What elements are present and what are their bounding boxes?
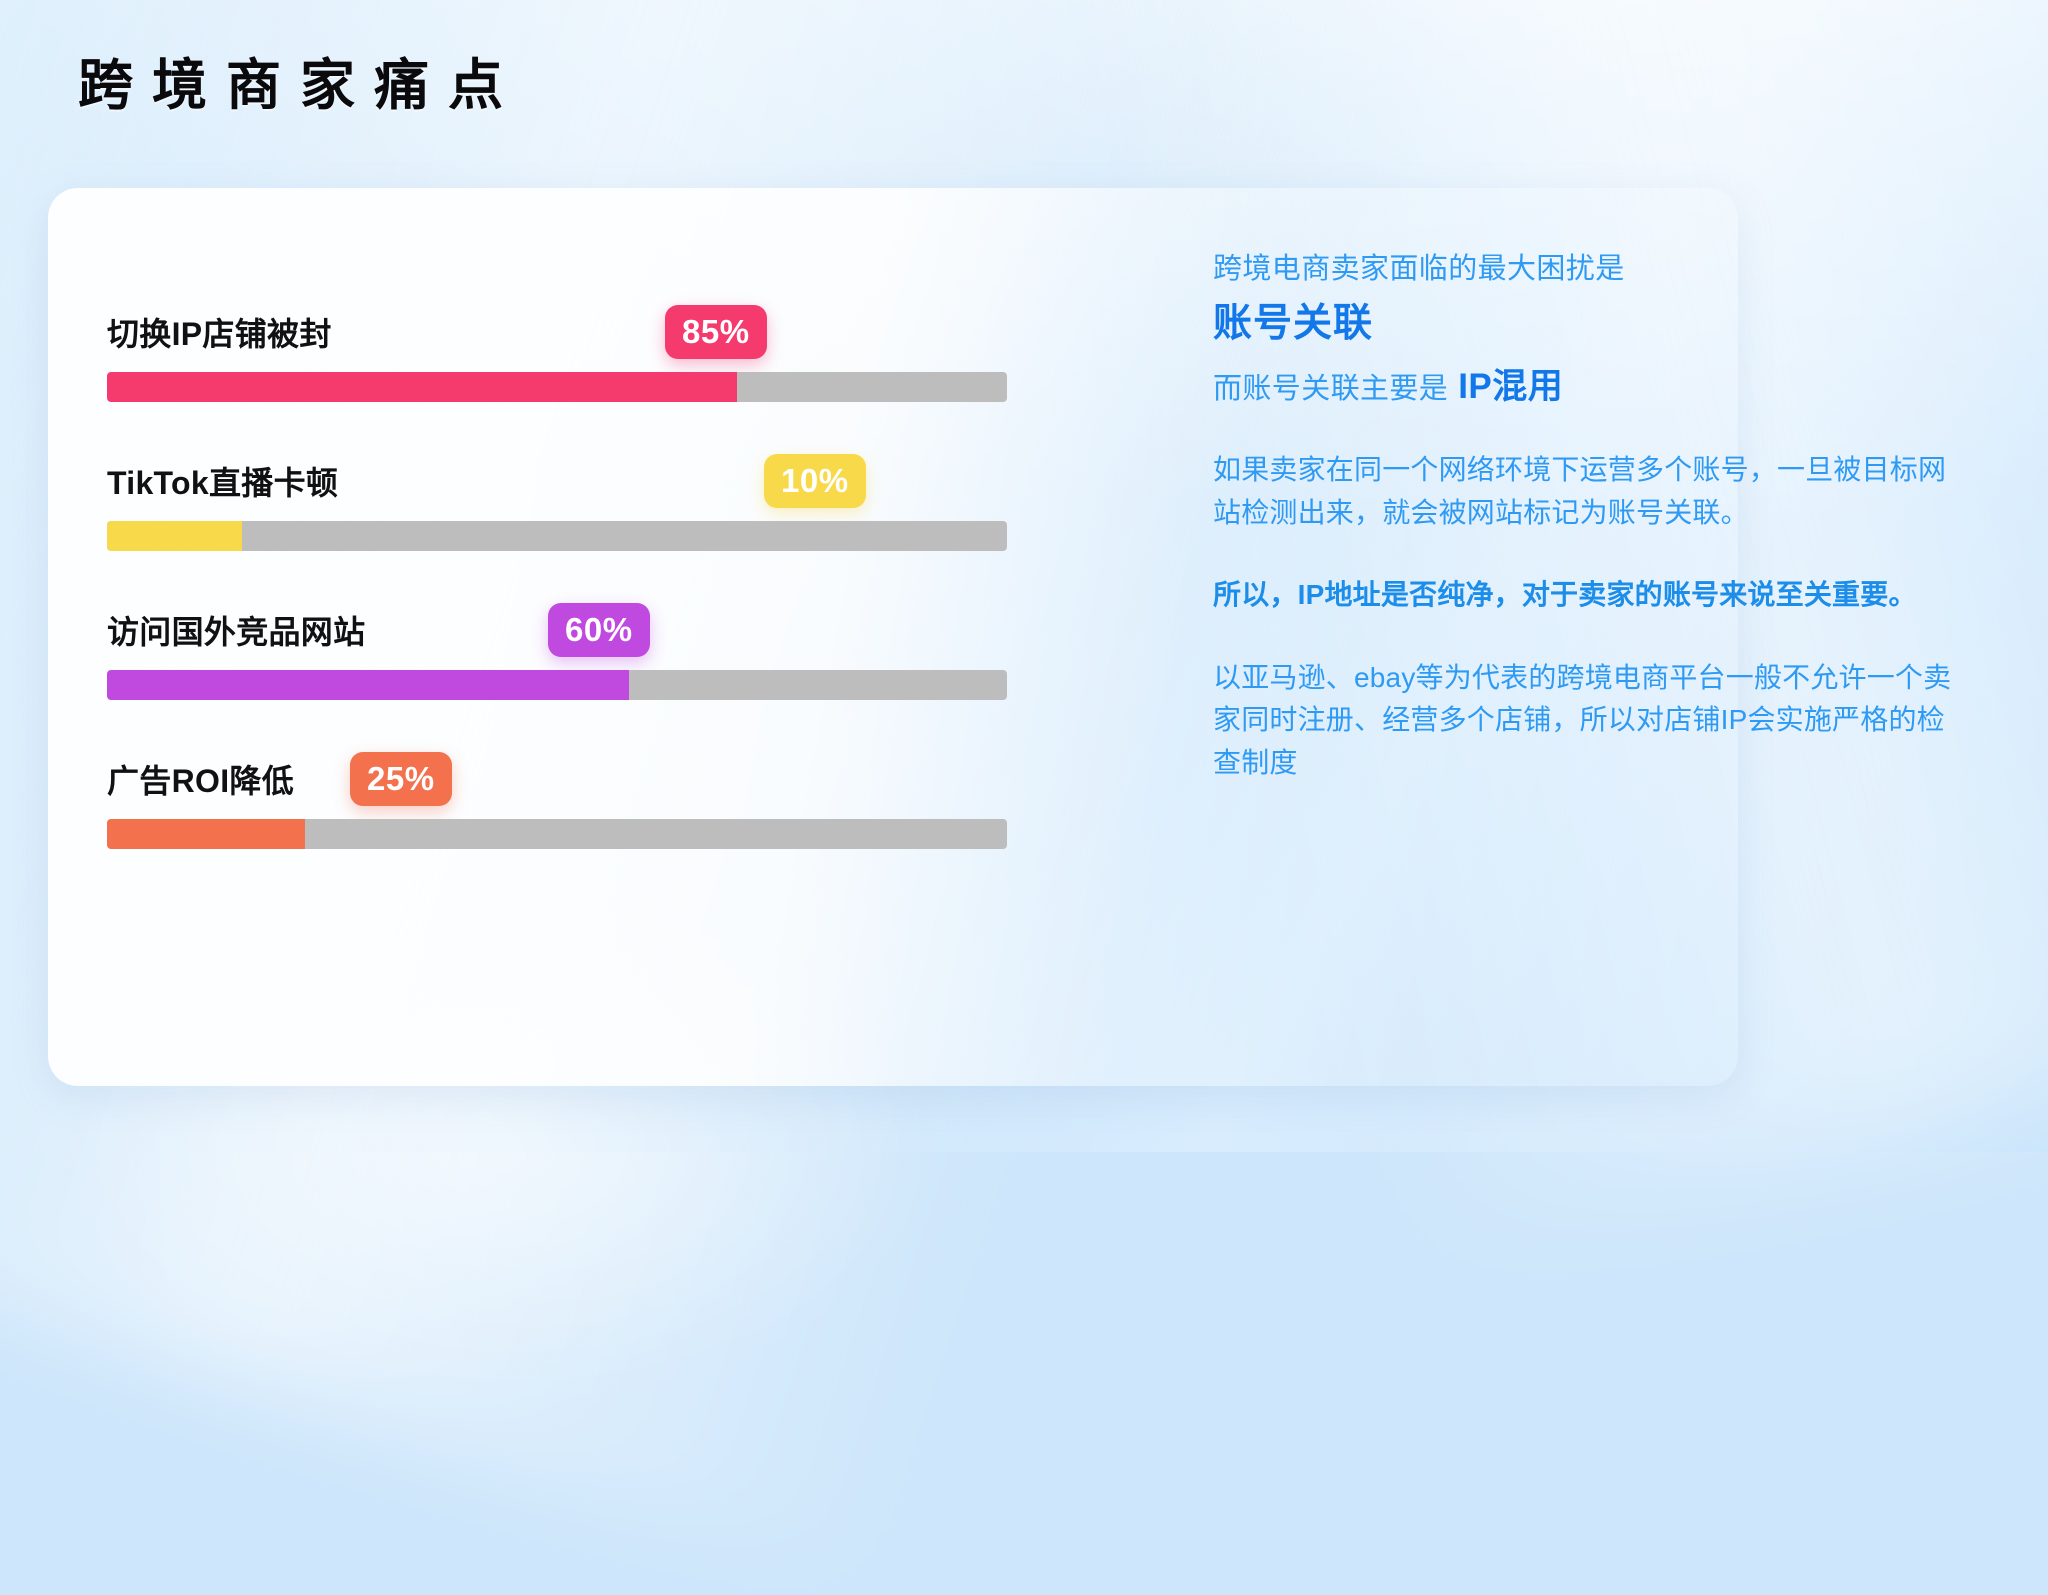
bar-label: 切换IP店铺被封 xyxy=(107,309,332,355)
bar-header: 访问国外竞品网站60% xyxy=(107,598,1007,662)
bar-header: TikTok直播卡顿10% xyxy=(107,449,1007,513)
bar-fill xyxy=(107,372,737,402)
bar-fill xyxy=(107,670,629,700)
bar-header: 广告ROI降低25% xyxy=(107,747,1007,811)
bar-label: TikTok直播卡顿 xyxy=(107,458,338,504)
bar-row: TikTok直播卡顿10% xyxy=(107,449,1007,551)
explanation-text-panel: 跨境电商卖家面临的最大困扰是 账号关联 而账号关联主要是IP混用 如果卖家在同一… xyxy=(1213,250,1973,784)
page-title: 跨境商家痛点 xyxy=(78,58,522,113)
hero-text: 账号关联 xyxy=(1213,301,1973,348)
paragraph-2: 所以，IP地址是否纯净，对于卖家的账号来说至关重要。 xyxy=(1213,574,1973,617)
subtitle-prefix: 而账号关联主要是 xyxy=(1213,373,1448,405)
subtitle-highlight: IP混用 xyxy=(1458,367,1563,406)
paragraph-1: 如果卖家在同一个网络环境下运营多个账号，一旦被目标网站检测出来，就会被网站标记为… xyxy=(1213,449,1973,534)
bar-row: 切换IP店铺被封85% xyxy=(107,300,1007,402)
lead-text: 跨境电商卖家面临的最大困扰是 xyxy=(1213,250,1973,289)
subtitle-row: 而账号关联主要是IP混用 xyxy=(1213,364,1973,410)
bar-label: 广告ROI降低 xyxy=(107,756,294,802)
bar-value-badge: 85% xyxy=(665,305,767,359)
bar-value-badge: 25% xyxy=(350,752,452,806)
bar-label: 访问国外竞品网站 xyxy=(107,607,365,653)
bar-track xyxy=(107,670,1007,700)
bar-track xyxy=(107,819,1007,849)
bar-row: 广告ROI降低25% xyxy=(107,747,1007,849)
bar-track xyxy=(107,372,1007,402)
bar-value-badge: 60% xyxy=(548,603,650,657)
pain-point-bar-chart: 切换IP店铺被封85%TikTok直播卡顿10%访问国外竞品网站60%广告ROI… xyxy=(107,300,1007,849)
bar-track xyxy=(107,521,1007,551)
paragraph-3: 以亚马逊、ebay等为代表的跨境电商平台一般不允许一个卖家同时注册、经营多个店铺… xyxy=(1213,657,1973,785)
bar-row: 访问国外竞品网站60% xyxy=(107,598,1007,700)
bar-fill xyxy=(107,521,242,551)
bar-value-badge: 10% xyxy=(764,454,866,508)
bar-fill xyxy=(107,819,305,849)
bar-header: 切换IP店铺被封85% xyxy=(107,300,1007,364)
